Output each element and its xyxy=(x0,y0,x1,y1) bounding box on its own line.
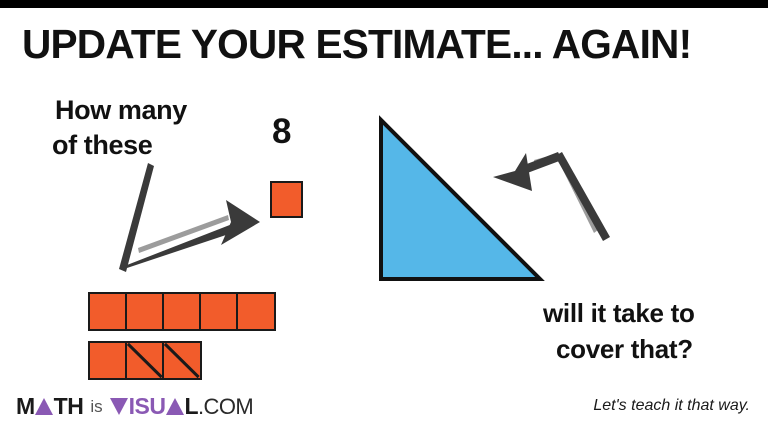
grid-cell xyxy=(88,292,128,331)
logo-visual-isu: ISU xyxy=(129,395,166,418)
question-left-line-2: of these xyxy=(52,129,152,162)
grid-cell-split xyxy=(162,341,202,380)
orange-grid-row-bottom xyxy=(88,341,202,380)
diagonal-line-icon xyxy=(164,343,200,378)
triangle-up-icon xyxy=(166,398,184,415)
hand-drawn-arrow-left-icon xyxy=(488,135,613,245)
grid-cell xyxy=(125,292,165,331)
question-left-line-1: How many xyxy=(55,94,187,127)
logo-dotcom: .COM xyxy=(198,395,253,418)
page-title: UPDATE YOUR ESTIMATE... AGAIN! xyxy=(22,20,745,68)
estimate-count: 8 xyxy=(272,112,291,152)
grid-cell xyxy=(199,292,239,331)
logo-math-m: M xyxy=(16,395,35,418)
logo-math-th: TH xyxy=(54,395,84,418)
triangle-down-icon xyxy=(110,398,128,415)
grid-cell xyxy=(236,292,276,331)
diagonal-line-icon xyxy=(127,343,163,378)
slide-canvas: UPDATE YOUR ESTIMATE... AGAIN! How many … xyxy=(0,0,768,432)
math-is-visual-logo[interactable]: M TH is ISU L .COM xyxy=(16,392,253,418)
triangle-up-icon xyxy=(35,398,53,415)
orange-unit-square xyxy=(270,181,303,218)
hand-drawn-arrow-right-icon xyxy=(108,160,268,290)
grid-cell xyxy=(88,341,128,380)
logo-visual-l: L xyxy=(184,395,198,418)
logo-is: is xyxy=(90,397,102,417)
question-right-line-2: cover that? xyxy=(556,333,693,365)
top-black-bar xyxy=(0,0,768,8)
orange-grid-row-top xyxy=(88,292,276,331)
question-right-line-1: will it take to xyxy=(543,297,695,329)
grid-cell-split xyxy=(125,341,165,380)
footer-tagline: Let's teach it that way. xyxy=(593,396,750,416)
grid-cell xyxy=(162,292,202,331)
